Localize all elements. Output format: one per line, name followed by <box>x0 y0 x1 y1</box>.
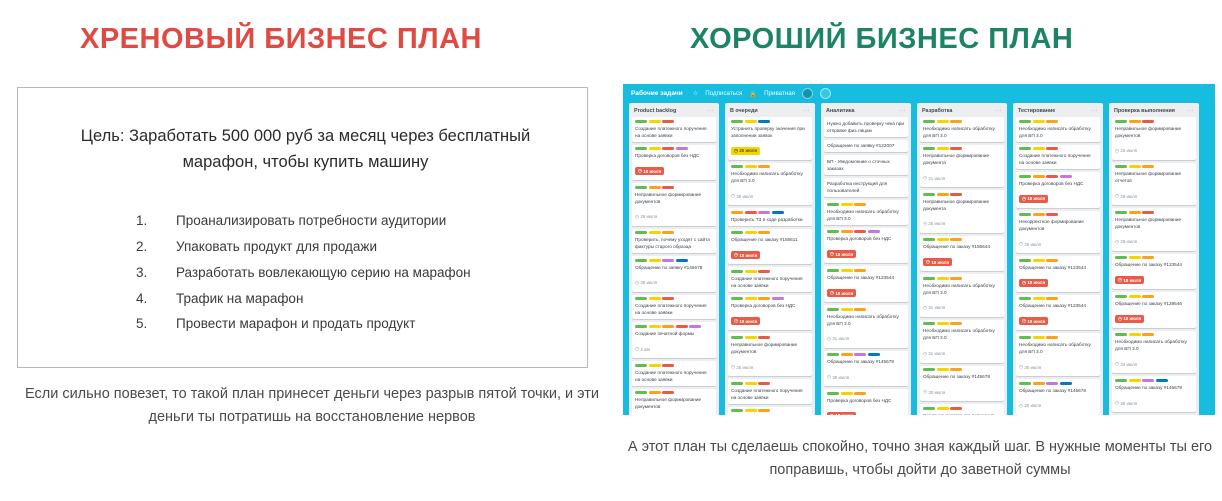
clock-icon: ◷ <box>830 413 834 415</box>
card-label-green <box>635 259 647 262</box>
card-label-green <box>1019 259 1031 262</box>
clock-icon: ◷ <box>1022 196 1026 202</box>
plan-step: 1.Проанализировать потребности аудитории <box>136 214 576 229</box>
card-due-badge[interactable]: ◷29 июля <box>1115 238 1137 246</box>
clock-icon: ◷ <box>635 214 639 220</box>
card-title: Неправильное формирование документов <box>1115 125 1193 139</box>
bad-plan-title: ХРЕНОВЫЙ БИЗНЕС ПЛАН <box>80 23 482 56</box>
card-due-badge[interactable]: ◷30 июля <box>827 373 849 381</box>
card-title: Обращение по заказу #123544 <box>1115 261 1193 268</box>
card-title: Неправильное формирование документов <box>1115 216 1193 230</box>
card-title: Устранить проверку значения при заполнен… <box>731 125 809 139</box>
card-label-yellow <box>649 231 661 234</box>
card-due-badge[interactable]: ◷26 июля <box>1115 147 1137 155</box>
card-label-blue <box>758 120 770 123</box>
board-card[interactable]: Обращение по заказу #155611◷18 июля <box>728 229 812 265</box>
card-labels <box>1019 147 1097 150</box>
card-label-green <box>635 297 647 300</box>
card-labels <box>1019 213 1097 216</box>
card-label-green <box>827 392 839 395</box>
card-labels <box>731 409 809 412</box>
card-due-badge[interactable]: ◷26 июля <box>923 220 945 228</box>
card-label-green <box>923 407 935 410</box>
list-menu-icon[interactable]: ··· <box>803 108 810 114</box>
card-label-orange <box>937 193 949 196</box>
card-labels <box>1115 120 1193 123</box>
card-title: Разработка инструкций для пользователей <box>827 180 905 194</box>
card-due-badge[interactable]: ◷30 июля <box>923 388 945 396</box>
card-label-orange <box>841 230 853 233</box>
board-list-header[interactable]: Проверка выполнения··· <box>1112 106 1196 117</box>
card-label-red <box>1046 175 1058 178</box>
board-card[interactable]: Обращение по заказу #129546◷18 июля <box>1112 292 1196 328</box>
card-label-yellow <box>937 238 949 241</box>
card-due-label: 18 июля <box>643 169 661 174</box>
card-label-red <box>1142 211 1154 214</box>
subscribe-button[interactable]: Подписаться <box>705 90 742 97</box>
board-card[interactable]: Проверка договоров без НДС◷18 июля <box>824 389 908 415</box>
card-label-orange <box>662 231 674 234</box>
card-label-yellow <box>745 165 757 168</box>
card-due-badge[interactable]: ◷31 июля <box>923 304 945 312</box>
clock-icon: ◷ <box>734 252 738 258</box>
card-due-badge[interactable]: ◷18 июля <box>923 258 952 266</box>
card-label-red <box>662 186 674 189</box>
card-due-badge[interactable]: ◷18 июля <box>1115 276 1144 284</box>
board-card[interactable]: Необходимо написать обработку для БП 3.0… <box>1016 333 1100 376</box>
card-label-red <box>950 147 962 150</box>
card-label-yellow <box>649 297 661 300</box>
card-label-purple <box>1060 175 1072 178</box>
card-title: Создание платежного поручения на основе … <box>1019 152 1097 166</box>
clock-icon: ◷ <box>830 251 834 257</box>
bad-plan-goal: Цель: Заработать 500 000 руб за месяц че… <box>63 123 548 175</box>
card-due-label: 18 июля <box>1027 196 1045 201</box>
card-due-badge[interactable]: ◷20 июля <box>731 147 760 155</box>
card-due-label: 29 июля <box>1120 194 1137 199</box>
board-card[interactable]: Необходимо написать обработку для БП 3.0 <box>1016 117 1100 142</box>
board-card[interactable]: Создание платежного поручения на основе … <box>632 295 716 320</box>
board-card[interactable]: Устранить проверку значения при заполнен… <box>728 117 812 160</box>
board-card[interactable]: Неправильное формирование документа◷21 и… <box>920 145 1004 188</box>
card-label-red <box>662 297 674 300</box>
card-due-label: 24 июля <box>1120 362 1137 367</box>
board-card[interactable]: Обращение по заказу #123544◷18 июля <box>824 266 908 302</box>
good-plan-title: ХОРОШИЙ БИЗНЕС ПЛАН <box>690 23 1073 56</box>
card-title: Необходимо написать обработку для БП 3.0 <box>1019 125 1097 139</box>
card-title: Обращение по заказу #145678 <box>1115 384 1193 391</box>
list-menu-icon[interactable]: ··· <box>1091 108 1098 114</box>
card-due-badge[interactable]: ◷18 июля <box>827 250 856 258</box>
card-due-badge[interactable]: ◷31 июля <box>923 350 945 358</box>
board-list-header[interactable]: В очереди··· <box>728 106 812 117</box>
plan-step: 2.Упаковать продукт для продажи <box>136 240 576 255</box>
card-label-green <box>1115 120 1127 123</box>
card-label-yellow <box>745 336 757 339</box>
card-due-label: 18 июля <box>835 252 853 257</box>
card-label-orange <box>1142 256 1154 259</box>
card-due-label: 18 июля <box>1027 280 1045 285</box>
card-labels <box>635 297 713 300</box>
card-label-orange <box>950 322 962 325</box>
card-label-yellow <box>937 277 949 280</box>
card-label-green <box>635 364 647 367</box>
clock-icon: ◷ <box>923 175 927 181</box>
card-labels <box>923 368 1001 371</box>
board-card[interactable]: Некорректное формирование документов◷25 … <box>1016 211 1100 254</box>
card-label-orange <box>1129 211 1141 214</box>
card-label-red <box>662 391 674 394</box>
clock-icon: ◷ <box>1115 400 1119 406</box>
card-label-orange <box>841 353 853 356</box>
card-label-red <box>758 382 770 385</box>
card-label-yellow <box>1129 165 1141 168</box>
card-label-red <box>758 270 770 273</box>
card-labels <box>1019 120 1097 123</box>
board-card[interactable]: Необходимо написать обработку для БП 3.0 <box>920 117 1004 142</box>
card-label-orange <box>854 392 866 395</box>
card-due-badge[interactable]: ◷18 июля <box>1019 317 1048 325</box>
board-card[interactable]: Создание платежного поручения на основе … <box>920 404 1004 415</box>
board-card[interactable]: Создание платежного поручения на основе … <box>632 361 716 386</box>
card-label-yellow <box>1033 297 1045 300</box>
plan-step: 5.Провести марафон и продать продукт <box>136 317 576 332</box>
card-title: Проверка договоров без НДС <box>1019 180 1097 187</box>
card-label-orange <box>950 120 962 123</box>
card-label-orange <box>1142 165 1154 168</box>
board-card[interactable]: Необходимо написать обработку для БП 3.0 <box>824 200 908 225</box>
clock-icon: ◷ <box>1115 193 1119 199</box>
card-label-purple <box>868 230 880 233</box>
card-due-label: 20 июля <box>739 148 757 153</box>
card-label-orange <box>1129 120 1141 123</box>
card-label-green <box>1115 333 1127 336</box>
card-labels <box>731 231 809 234</box>
comparison-slide: ХРЕНОВЫЙ БИЗНЕС ПЛАН Цель: Заработать 50… <box>0 0 1222 501</box>
card-due-badge[interactable]: ◷29 июля <box>635 213 657 221</box>
card-due-label: 30 июля <box>736 194 753 199</box>
card-label-green <box>731 336 743 339</box>
card-labels <box>827 353 905 356</box>
card-label-yellow <box>841 392 853 395</box>
card-label-yellow <box>649 259 661 262</box>
card-due-label: 18 июля <box>835 291 853 296</box>
board-card[interactable]: Проверить, почему уходят с сайта фактуры… <box>632 229 716 254</box>
card-label-red <box>1046 213 1058 216</box>
card-label-green <box>1115 256 1127 259</box>
card-label-red <box>676 325 688 328</box>
board-card[interactable]: Обращение по заказу #145678◷30 июля <box>920 366 1004 402</box>
board-lists: Product backlog···Создание платежного по… <box>623 103 1215 413</box>
board-list-header[interactable]: Аналитика··· <box>824 106 908 117</box>
card-due-label: 18 июля <box>1123 278 1141 283</box>
board-card[interactable]: Неправильное формирование документов◷29 … <box>632 183 716 226</box>
board-card[interactable]: Создание платежного поручения на основе … <box>728 267 812 292</box>
card-labels <box>635 391 713 394</box>
card-label-yellow <box>649 325 661 328</box>
board-card[interactable]: Создание печатной формы◷4 авг <box>632 322 716 358</box>
board-list-title: Аналитика <box>826 108 855 114</box>
card-title: Обращение по заказу #155611 <box>731 236 809 243</box>
board-card[interactable]: Проверка договоров без НДС◷18 июля <box>728 295 812 331</box>
card-label-yellow <box>745 270 757 273</box>
board-card[interactable]: Обращение по заказу #145678◷30 июля <box>1112 376 1196 412</box>
card-label-orange <box>854 203 866 206</box>
board-list-title: Тестирование <box>1018 108 1055 114</box>
board-card[interactable]: Необходимо написать обработку для БП 3.0… <box>1112 331 1196 374</box>
clock-icon: ◷ <box>635 346 639 352</box>
card-label-orange <box>1033 382 1045 385</box>
card-label-purple <box>1142 379 1154 382</box>
card-label-blue <box>868 353 880 356</box>
card-due-badge[interactable]: ◷30 июля <box>731 192 753 200</box>
board-card[interactable]: Необходимо написать обработку для БП 3.0… <box>920 274 1004 317</box>
card-label-green <box>923 120 935 123</box>
card-label-green <box>1019 382 1031 385</box>
board-card[interactable]: Необходимо написать обработку для БП 3.0… <box>728 163 812 206</box>
card-due-badge[interactable]: ◷18 июля <box>731 251 760 259</box>
board-card[interactable]: Обращение по заказу #155644◷18 июля <box>920 236 1004 272</box>
board-card[interactable]: Неправильное формирование отчетов◷29 июл… <box>1112 163 1196 206</box>
card-due-label: 26 июля <box>736 365 753 370</box>
board-name: Рабочие задачи <box>631 90 683 97</box>
card-label-yellow <box>1129 333 1141 336</box>
card-due-badge[interactable]: ◷24 июля <box>1115 360 1137 368</box>
card-label-green <box>923 277 935 280</box>
card-label-yellow <box>841 269 853 272</box>
card-label-red <box>1142 120 1154 123</box>
card-due-label: 30 июля <box>832 375 849 380</box>
card-label-red <box>662 364 674 367</box>
card-label-green <box>635 231 647 234</box>
board-card[interactable]: Проверка договоров без НДС◷18 июля <box>1016 172 1100 208</box>
card-label-orange <box>1046 120 1058 123</box>
card-label-orange <box>854 269 866 272</box>
board-card[interactable]: Проверить ТЗ в ходе разработки <box>728 208 812 226</box>
card-title: Необходимо написать обработку для БП 3.0 <box>923 125 1001 139</box>
card-due-label: 29 июля <box>640 214 657 219</box>
card-due-badge[interactable]: ◷26 июля <box>731 363 753 371</box>
card-title: Обращение по заказу #123544 <box>827 274 905 281</box>
card-title: Обращение по заказу #145678 <box>827 358 905 365</box>
card-label-green <box>1115 379 1127 382</box>
card-title: Необходимо написать обработку для БП 3.0 <box>827 313 905 327</box>
plan-step: 4.Трафик на марафон <box>136 292 576 307</box>
card-title: Неправильное формирование документа <box>923 198 1001 212</box>
card-label-orange <box>1142 333 1154 336</box>
board-list-header[interactable]: Разработка··· <box>920 106 1004 117</box>
card-label-yellow <box>841 308 853 311</box>
list-menu-icon[interactable]: ··· <box>707 108 714 114</box>
card-title: Проверить ТЗ в ходе разработки <box>731 216 809 223</box>
clock-icon: ◷ <box>1019 241 1023 247</box>
card-due-badge[interactable]: ◷18 июля <box>827 289 856 297</box>
card-label-yellow <box>649 120 661 123</box>
card-title: Необходимо написать обработку для БП 3.0 <box>1115 338 1193 352</box>
board-card[interactable]: Нужно добавить проверку чека при отправк… <box>824 117 908 137</box>
card-label-green <box>1019 213 1031 216</box>
card-due-label: 30 июля <box>1024 365 1041 370</box>
board-card[interactable]: Неправильное формирование документов◷26 … <box>728 333 812 376</box>
card-label-yellow <box>745 382 757 385</box>
card-label-red <box>950 193 962 196</box>
card-due-badge[interactable]: ◷18 июля <box>731 317 760 325</box>
card-label-purple <box>758 211 770 214</box>
board-card[interactable]: Проверка договоров без НДС◷18 июля <box>824 228 908 264</box>
board-card[interactable]: Необходимо написать обработку для БП 3.0… <box>920 320 1004 363</box>
board-card[interactable]: Обращение по заказу #145678◷20 июля <box>1016 379 1100 415</box>
card-due-badge[interactable]: ◷18 июля <box>1115 315 1144 323</box>
card-title: Проверить, почему уходят с сайта фактуры… <box>635 236 713 250</box>
card-label-purple <box>689 325 701 328</box>
card-due-badge[interactable]: ◷18 июля <box>1019 279 1048 287</box>
board-list-title: В очереди <box>730 108 758 114</box>
clock-icon: ◷ <box>1118 316 1122 322</box>
avatar[interactable] <box>820 88 831 99</box>
board-card[interactable]: Создание платежного поручения на основе … <box>1016 145 1100 170</box>
card-due-label: 21 июля <box>928 176 945 181</box>
card-labels <box>1115 211 1193 214</box>
bad-plan-step-list: 1.Проанализировать потребности аудитории… <box>136 214 576 343</box>
card-due-badge[interactable]: ◷30 июля <box>1019 363 1041 371</box>
board-list: Product backlog···Создание платежного по… <box>629 103 719 415</box>
star-icon[interactable]: ☆ <box>693 90 699 97</box>
card-label-yellow <box>1129 379 1141 382</box>
card-due-label: 31 июля <box>928 305 945 310</box>
board-card[interactable]: Необходимо написать обработку для БП 3.0… <box>824 305 908 348</box>
lock-icon: 🔒 <box>749 90 757 98</box>
card-due-badge[interactable]: ◷4 авг <box>635 345 650 353</box>
card-title: Необходимо написать обработку для БП 3.0 <box>1019 341 1097 355</box>
clock-icon: ◷ <box>1019 364 1023 370</box>
list-menu-icon[interactable]: ··· <box>1187 108 1194 114</box>
card-due-badge[interactable]: ◷25 июля <box>1019 240 1041 248</box>
board-list-header[interactable]: Тестирование··· <box>1016 106 1100 117</box>
plan-step-number: 5. <box>136 317 176 332</box>
card-due-badge[interactable]: ◷18 июля <box>827 412 856 415</box>
clock-icon: ◷ <box>635 280 639 286</box>
board-card[interactable]: Проверка договоров без НДС◷18 июля <box>632 145 716 181</box>
clock-icon: ◷ <box>923 351 927 357</box>
board-card[interactable]: Обращение по заявку #145678◷30 июля <box>632 256 716 292</box>
board-card[interactable]: Обращение по заказу #123544◷18 июля <box>1016 295 1100 331</box>
card-label-orange <box>1046 336 1058 339</box>
card-label-purple <box>676 147 688 150</box>
bad-plan-card: Цель: Заработать 500 000 руб за месяц че… <box>17 87 588 368</box>
card-label-green <box>635 186 647 189</box>
card-label-orange <box>950 277 962 280</box>
card-title: Обращение по заявку #145678 <box>635 264 713 271</box>
card-title: Обращение по заказу #155644 <box>923 243 1001 250</box>
card-title: Проверка договоров без НДС <box>635 152 713 159</box>
card-labels <box>1115 379 1193 382</box>
card-labels <box>731 382 809 385</box>
card-labels <box>731 270 809 273</box>
card-due-badge[interactable]: ◷18 июля <box>635 167 664 175</box>
board-list: Тестирование···Необходимо написать обраб… <box>1013 103 1103 415</box>
card-label-yellow <box>1033 336 1045 339</box>
card-label-yellow <box>649 147 661 150</box>
board-card[interactable]: Обращение по заказу #123544◷18 июля <box>1112 254 1196 290</box>
card-labels <box>731 336 809 339</box>
card-labels <box>635 147 713 150</box>
card-label-yellow <box>937 368 949 371</box>
card-label-green <box>635 120 647 123</box>
list-menu-icon[interactable]: ··· <box>899 108 906 114</box>
board-card[interactable]: Неправильное формирование документов◷29 … <box>632 389 716 415</box>
card-due-badge[interactable]: ◷30 июля <box>635 279 657 287</box>
board-card[interactable]: Неправильное формирование документов◷25 … <box>728 407 812 415</box>
card-label-green <box>1115 211 1127 214</box>
board-card[interactable]: Неправильное формирование документов◷29 … <box>1112 208 1196 251</box>
card-label-orange <box>950 368 962 371</box>
card-due-badge[interactable]: ◷29 июля <box>1115 192 1137 200</box>
clock-icon: ◷ <box>638 168 642 174</box>
board-card[interactable]: Неправильное формирование документов◷26 … <box>1112 117 1196 160</box>
card-label-orange <box>1142 295 1154 298</box>
board-card[interactable]: Неправильное формирование документа◷26 и… <box>920 190 1004 233</box>
board-list-title: Проверка выполнения <box>1114 108 1175 114</box>
card-label-blue <box>676 259 688 262</box>
card-due-badge[interactable]: ◷21 июля <box>923 174 945 182</box>
card-label-yellow <box>937 407 949 410</box>
card-label-green <box>827 203 839 206</box>
card-label-orange <box>1046 259 1058 262</box>
card-label-orange <box>758 297 770 300</box>
card-labels <box>827 269 905 272</box>
card-labels <box>1019 336 1097 339</box>
card-due-label: 30 июля <box>1120 401 1137 406</box>
board-card[interactable]: БП - Уведомление о сточных заказах <box>824 155 908 175</box>
plan-step-number: 2. <box>136 240 176 255</box>
card-title: Неправильное формирование документов <box>731 341 809 355</box>
list-menu-icon[interactable]: ··· <box>995 108 1002 114</box>
card-labels <box>635 231 713 234</box>
card-labels <box>1019 259 1097 262</box>
board-list-header[interactable]: Product backlog··· <box>632 106 716 117</box>
board-list-title: Product backlog <box>634 108 676 114</box>
card-label-red <box>662 147 674 150</box>
card-labels <box>923 238 1001 241</box>
card-label-green <box>1019 175 1031 178</box>
plan-step-label: Упаковать продукт для продажи <box>176 240 377 255</box>
board-card[interactable]: Создание платежного поручения на основе … <box>632 117 716 142</box>
avatar[interactable] <box>802 88 813 99</box>
card-label-green <box>635 147 647 150</box>
card-label-orange <box>1046 297 1058 300</box>
card-labels <box>731 120 809 123</box>
card-due-badge[interactable]: ◷20 июля <box>1019 402 1041 410</box>
card-due-badge[interactable]: ◷31 июля <box>827 335 849 343</box>
clock-icon: ◷ <box>1019 403 1023 409</box>
board-card[interactable]: Обращение по заказу #123544◷18 июля <box>1016 256 1100 292</box>
board-card[interactable]: Создание платежного поручения на основе … <box>728 379 812 404</box>
clock-icon: ◷ <box>731 193 735 199</box>
card-label-green <box>923 193 935 196</box>
board-list: Аналитика···Нужно добавить проверку чека… <box>821 103 911 415</box>
card-due-badge[interactable]: ◷30 июля <box>1115 399 1137 407</box>
card-label-purple <box>1046 382 1058 385</box>
board-card[interactable]: Обращение по заявку #122007 <box>824 140 908 153</box>
board-card[interactable]: Обращение по заказу #145678◷30 июля <box>824 351 908 387</box>
privacy-label[interactable]: Приватная <box>764 90 795 97</box>
board-card[interactable]: Разработка инструкций для пользователей <box>824 178 908 198</box>
card-title: Создание печатной формы <box>635 330 713 337</box>
card-labels <box>923 147 1001 150</box>
card-label-green <box>1019 147 1031 150</box>
card-due-label: 26 июля <box>928 221 945 226</box>
card-due-badge[interactable]: ◷18 июля <box>1019 195 1048 203</box>
